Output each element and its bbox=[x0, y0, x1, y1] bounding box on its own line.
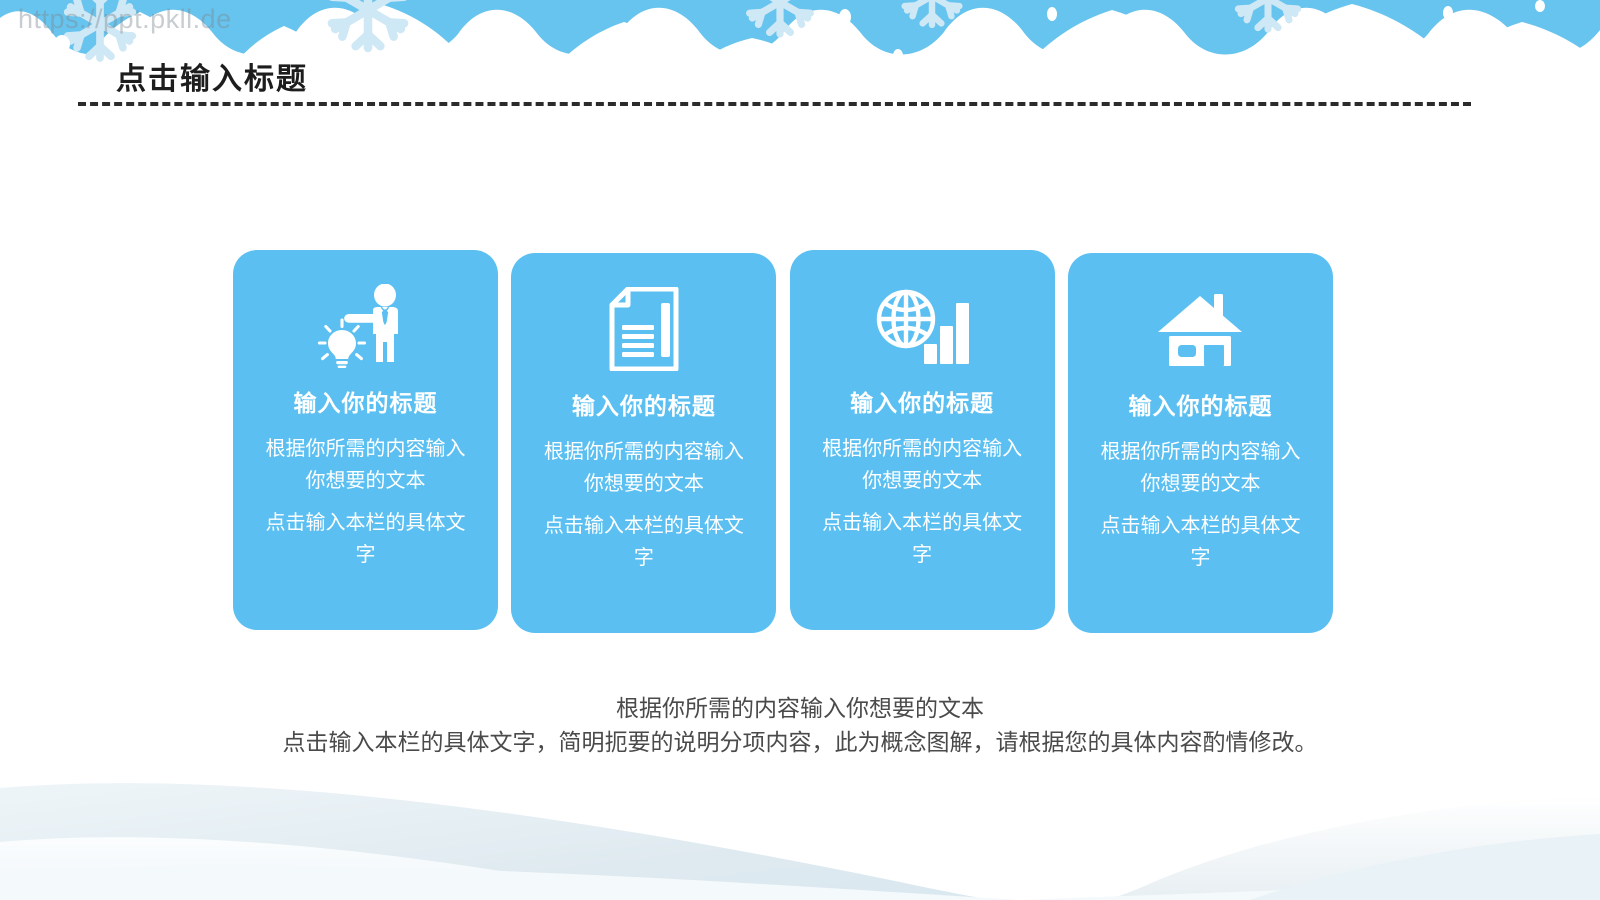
house-icon bbox=[1145, 287, 1255, 371]
card-paragraph-1: 根据你所需的内容输入你想要的文本 bbox=[1093, 435, 1308, 499]
feature-card-1[interactable]: 输入你的标题 根据你所需的内容输入你想要的文本 点击输入本栏的具体文字 bbox=[233, 250, 498, 630]
card-paragraph-2: 点击输入本栏的具体文字 bbox=[1093, 509, 1308, 573]
footer-description: 根据你所需的内容输入你想要的文本 点击输入本栏的具体文字，简明扼要的说明分项内容… bbox=[0, 692, 1600, 760]
page-title: 点击输入标题 bbox=[116, 54, 308, 98]
document-icon bbox=[589, 287, 699, 371]
feature-card-3[interactable]: 输入你的标题 根据你所需的内容输入你想要的文本 点击输入本栏的具体文字 bbox=[790, 250, 1055, 630]
feature-card-4[interactable]: 输入你的标题 根据你所需的内容输入你想要的文本 点击输入本栏的具体文字 bbox=[1068, 253, 1333, 633]
bottom-snow-decoration bbox=[0, 760, 1600, 900]
card-paragraph-1: 根据你所需的内容输入你想要的文本 bbox=[536, 435, 751, 499]
card-paragraph-2: 点击输入本栏的具体文字 bbox=[815, 506, 1030, 570]
card-title: 输入你的标题 bbox=[572, 387, 716, 421]
site-watermark: https://ppt.pkll.de bbox=[18, 4, 232, 35]
card-title: 输入你的标题 bbox=[294, 384, 438, 418]
card-paragraph-1: 根据你所需的内容输入你想要的文本 bbox=[815, 432, 1030, 496]
card-paragraph-2: 点击输入本栏的具体文字 bbox=[536, 509, 751, 573]
globe-chart-icon bbox=[867, 284, 977, 368]
card-paragraph-2: 点击输入本栏的具体文字 bbox=[258, 506, 473, 570]
card-body: 根据你所需的内容输入你想要的文本 点击输入本栏的具体文字 bbox=[258, 432, 473, 570]
top-cloud-decoration bbox=[0, 0, 1600, 62]
card-paragraph-1: 根据你所需的内容输入你想要的文本 bbox=[258, 432, 473, 496]
title-divider bbox=[78, 102, 1471, 106]
footer-line-2: 点击输入本栏的具体文字，简明扼要的说明分项内容，此为概念图解，请根据您的具体内容… bbox=[0, 726, 1600, 760]
card-title: 输入你的标题 bbox=[850, 384, 994, 418]
feature-card-2[interactable]: 输入你的标题 根据你所需的内容输入你想要的文本 点击输入本栏的具体文字 bbox=[511, 253, 776, 633]
card-row: 输入你的标题 根据你所需的内容输入你想要的文本 点击输入本栏的具体文字 bbox=[233, 250, 1333, 630]
card-title: 输入你的标题 bbox=[1128, 387, 1272, 421]
slide-canvas: https://ppt.pkll.de 点击输入标题 bbox=[0, 0, 1600, 900]
businessman-idea-icon bbox=[311, 284, 421, 368]
card-body: 根据你所需的内容输入你想要的文本 点击输入本栏的具体文字 bbox=[815, 432, 1030, 570]
footer-line-1: 根据你所需的内容输入你想要的文本 bbox=[0, 692, 1600, 726]
card-body: 根据你所需的内容输入你想要的文本 点击输入本栏的具体文字 bbox=[536, 435, 751, 573]
card-body: 根据你所需的内容输入你想要的文本 点击输入本栏的具体文字 bbox=[1093, 435, 1308, 573]
